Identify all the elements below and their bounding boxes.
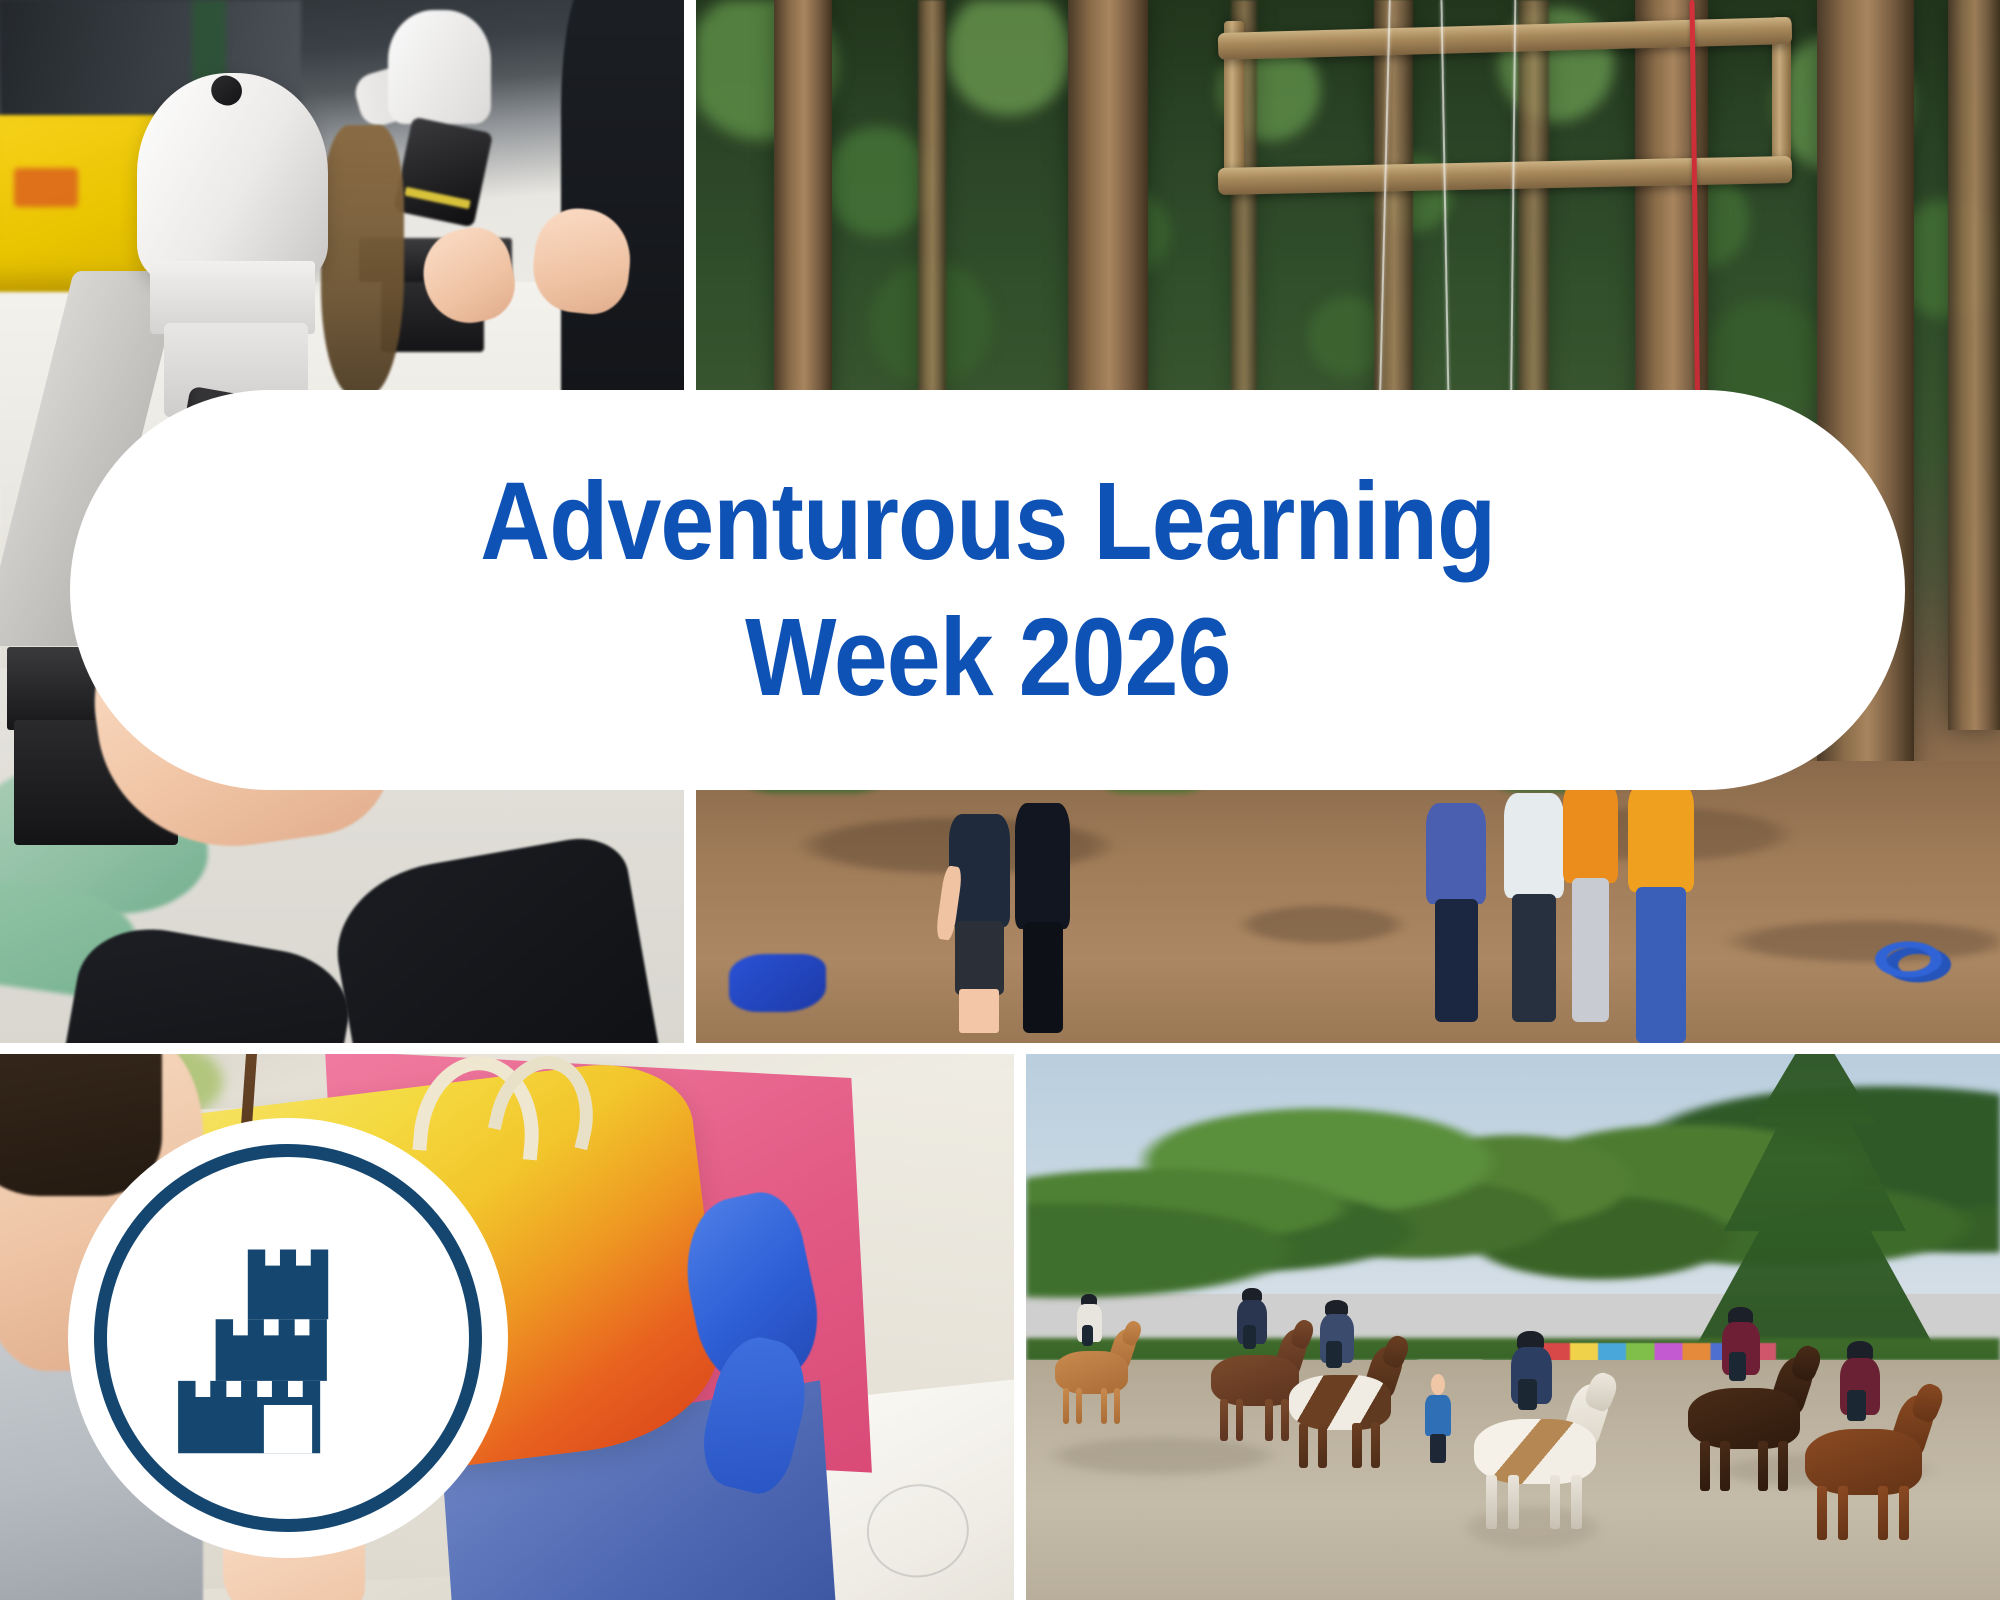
riding-instructor xyxy=(1425,1371,1450,1464)
student-legs xyxy=(1572,878,1609,1022)
lab-student-hair xyxy=(321,125,403,396)
poster-title-line-2: Week 2026 xyxy=(745,603,1230,713)
background-microscope-head xyxy=(388,10,491,124)
rider-leg xyxy=(1082,1325,1093,1345)
student-torso xyxy=(1504,793,1564,899)
photo-horse-riding xyxy=(1026,1054,2000,1600)
horse-and-rider xyxy=(1055,1327,1128,1420)
horse-leg xyxy=(1281,1399,1289,1440)
lab-green-strip xyxy=(192,0,226,83)
horse-body xyxy=(1474,1419,1596,1484)
horse-body xyxy=(1805,1429,1922,1494)
rider xyxy=(1237,1288,1267,1345)
rider-leg xyxy=(1326,1341,1342,1367)
horse-and-rider xyxy=(1289,1343,1391,1463)
horse-and-rider xyxy=(1474,1382,1596,1524)
poster-canvas: Adventurous Learning Week 2026 xyxy=(0,0,2000,1600)
instructor-legs xyxy=(1430,1434,1446,1464)
student-legs xyxy=(1636,887,1686,1043)
student-legs xyxy=(1512,894,1556,1022)
horse-leg xyxy=(1878,1486,1889,1540)
horse-leg xyxy=(1700,1441,1710,1491)
rider-leg xyxy=(1847,1390,1865,1421)
horse-leg xyxy=(1265,1399,1273,1440)
rider xyxy=(1722,1307,1760,1375)
student-figure xyxy=(1504,793,1564,1022)
horse-leg xyxy=(1220,1399,1228,1440)
student-figure xyxy=(1426,803,1486,1022)
horse-riding-scene xyxy=(1026,1054,2000,1600)
rider xyxy=(1320,1300,1355,1362)
instructor-body xyxy=(1425,1395,1450,1436)
horse-leg xyxy=(1899,1486,1910,1540)
student-legs xyxy=(1023,922,1062,1032)
horse-leg xyxy=(1838,1486,1849,1540)
microscope-eyepiece-tube xyxy=(206,70,247,110)
horse-leg xyxy=(1508,1475,1519,1529)
student-torso xyxy=(1563,782,1618,883)
microscope-head xyxy=(137,73,329,282)
horse-leg xyxy=(1720,1441,1730,1491)
rider xyxy=(1840,1341,1880,1415)
student-figure xyxy=(1628,782,1693,1043)
background-microscope-objective xyxy=(393,117,493,228)
student-torso xyxy=(1015,803,1070,929)
horse-leg xyxy=(1571,1475,1582,1529)
student-figure xyxy=(1563,782,1618,1022)
tree-trunk xyxy=(1948,0,2000,730)
horse-leg xyxy=(1758,1441,1768,1491)
horse-and-rider xyxy=(1805,1393,1922,1535)
horse-leg xyxy=(1817,1486,1828,1540)
student-torso xyxy=(1426,803,1486,904)
horse-leg xyxy=(1236,1399,1244,1440)
forest-floor xyxy=(696,761,2000,1043)
horse-body xyxy=(1289,1375,1391,1430)
horse-leg xyxy=(1114,1388,1121,1423)
horse-leg xyxy=(1352,1423,1361,1469)
student-shin xyxy=(959,989,998,1033)
rider xyxy=(1077,1294,1102,1342)
instructor-head xyxy=(1431,1374,1445,1394)
horse-body xyxy=(1688,1388,1800,1448)
horse-leg xyxy=(1076,1388,1083,1423)
child-hair xyxy=(0,1054,162,1196)
student-legs xyxy=(1435,899,1478,1022)
school-logo-badge xyxy=(68,1118,508,1558)
student-legs xyxy=(955,921,1004,995)
horse-and-rider xyxy=(1688,1354,1800,1485)
poster-title-line-1: Adventurous Learning xyxy=(480,467,1495,577)
student-torso xyxy=(1628,782,1693,892)
rider-leg xyxy=(1518,1379,1537,1410)
blue-equipment-bag xyxy=(729,954,827,1011)
horse-body xyxy=(1211,1355,1299,1405)
student-figure xyxy=(944,814,1014,1033)
horse-leg xyxy=(1299,1423,1308,1469)
horse-leg xyxy=(1778,1441,1788,1491)
horse-leg xyxy=(1063,1388,1070,1423)
horse-leg xyxy=(1318,1423,1327,1469)
horse-leg xyxy=(1371,1423,1380,1469)
horse-leg xyxy=(1550,1475,1561,1529)
horse-and-rider xyxy=(1211,1327,1299,1436)
blue-rope-coil xyxy=(1850,928,1967,991)
horse-leg xyxy=(1486,1475,1497,1529)
title-banner: Adventurous Learning Week 2026 xyxy=(70,390,1905,790)
rider xyxy=(1511,1331,1552,1405)
rider-leg xyxy=(1243,1325,1257,1349)
horse-leg xyxy=(1101,1388,1108,1423)
student-figure xyxy=(1015,803,1070,1032)
rider-leg xyxy=(1729,1352,1747,1381)
castle-icon xyxy=(154,1204,422,1472)
